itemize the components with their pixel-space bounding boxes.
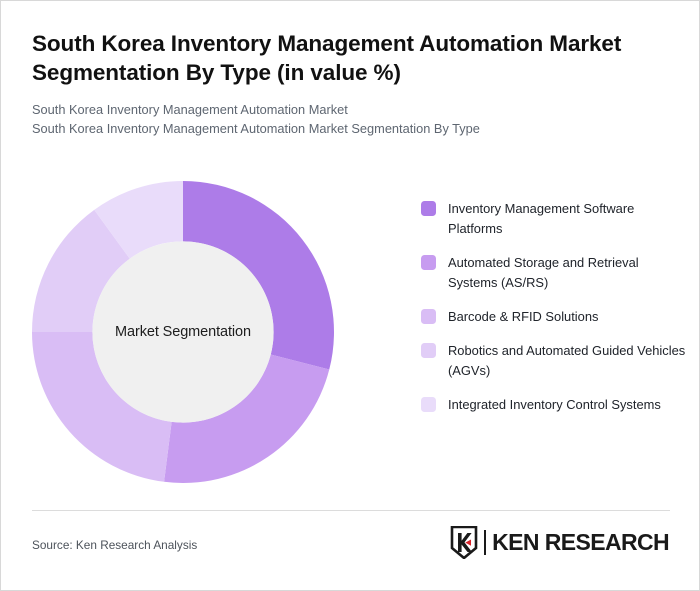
- donut-chart: Market Segmentation: [32, 181, 334, 483]
- donut-hole: [92, 241, 273, 422]
- legend-label: Automated Storage and Retrieval Systems …: [448, 253, 686, 293]
- legend-swatch-icon: [421, 309, 436, 324]
- legend-swatch-icon: [421, 201, 436, 216]
- logo-separator: [484, 530, 486, 555]
- legend-item[interactable]: Automated Storage and Retrieval Systems …: [421, 253, 686, 293]
- legend-item[interactable]: Barcode & RFID Solutions: [421, 307, 686, 327]
- legend-label: Integrated Inventory Control Systems: [448, 395, 661, 415]
- subtitle-primary: South Korea Inventory Management Automat…: [32, 100, 652, 119]
- donut-svg: [32, 181, 334, 483]
- legend-item[interactable]: Robotics and Automated Guided Vehicles (…: [421, 341, 686, 381]
- legend-label: Robotics and Automated Guided Vehicles (…: [448, 341, 686, 381]
- subtitle-secondary: South Korea Inventory Management Automat…: [32, 119, 652, 138]
- legend-swatch-icon: [421, 343, 436, 358]
- footer-divider: [32, 510, 670, 511]
- source-note: Source: Ken Research Analysis: [32, 538, 197, 552]
- subtitle-block: South Korea Inventory Management Automat…: [32, 100, 652, 138]
- ken-research-logo: KEN RESEARCH: [449, 525, 669, 559]
- ken-research-shield-icon: [449, 526, 479, 559]
- legend-item[interactable]: Integrated Inventory Control Systems: [421, 395, 686, 415]
- logo-wordmark: KEN RESEARCH: [492, 529, 669, 556]
- legend-item[interactable]: Inventory Management Software Platforms: [421, 199, 686, 239]
- chart-header: South Korea Inventory Management Automat…: [32, 29, 652, 138]
- legend-swatch-icon: [421, 255, 436, 270]
- page-title: South Korea Inventory Management Automat…: [32, 29, 652, 87]
- legend-label: Barcode & RFID Solutions: [448, 307, 598, 327]
- legend-swatch-icon: [421, 397, 436, 412]
- legend-label: Inventory Management Software Platforms: [448, 199, 686, 239]
- chart-area: Market Segmentation Inventory Management…: [1, 171, 700, 501]
- chart-legend: Inventory Management Software PlatformsA…: [421, 199, 686, 415]
- chart-page: South Korea Inventory Management Automat…: [0, 0, 700, 591]
